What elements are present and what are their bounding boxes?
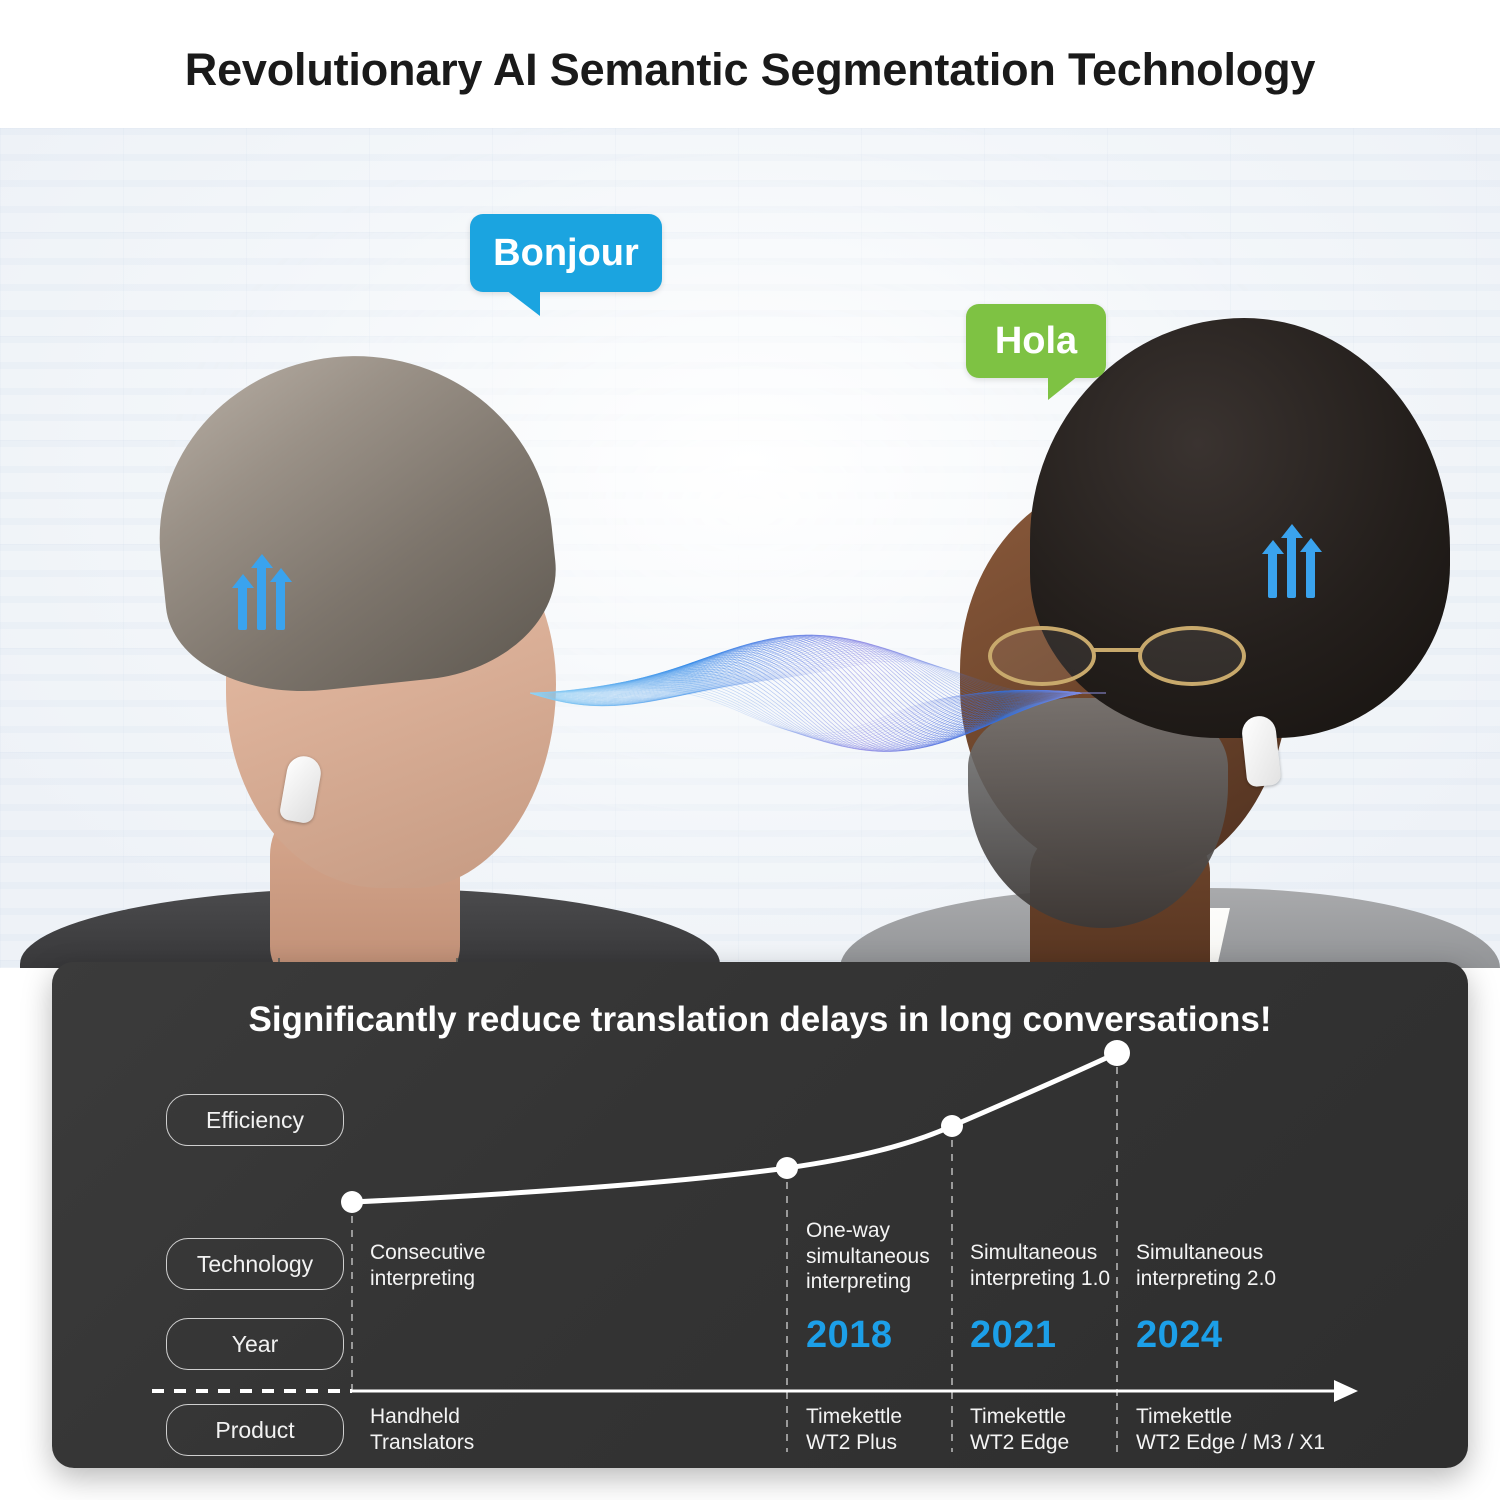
cell-technology-2: Simultaneous interpreting 1.0 (970, 1240, 1130, 1291)
row-label-product[interactable]: Product (166, 1404, 344, 1456)
axis-arrowhead (1334, 1380, 1358, 1402)
row-label-technology[interactable]: Technology (166, 1238, 344, 1290)
cell-technology-3: Simultaneous interpreting 2.0 (1136, 1240, 1316, 1291)
arrow-up-icon (1306, 550, 1315, 598)
glasses-icon (988, 626, 1288, 686)
speech-bubble-tail (506, 290, 540, 316)
cell-year-2: 2021 (970, 1314, 1057, 1357)
glasses-lens-left (988, 626, 1096, 686)
curve-node-3 (1104, 1040, 1130, 1066)
cell-year-3: 2024 (1136, 1314, 1223, 1357)
speech-bubble-hola-text: Hola (995, 320, 1077, 363)
audio-arrows-right (1268, 536, 1315, 598)
speech-bubble-tail (1048, 376, 1078, 400)
arrow-up-icon (238, 586, 247, 630)
glasses-lens-right (1138, 626, 1246, 686)
glasses-bridge (1094, 648, 1142, 652)
audio-arrows-left (238, 566, 285, 630)
curve-node-1 (776, 1157, 798, 1179)
arrow-up-icon (276, 580, 285, 630)
timeline-chart-panel: Significantly reduce translation delays … (52, 962, 1468, 1468)
cell-product-1: Timekettle WT2 Plus (806, 1404, 966, 1455)
person-right-man (820, 228, 1500, 968)
infographic-page: Revolutionary AI Semantic Segmentation T… (0, 0, 1500, 1500)
row-label-year[interactable]: Year (166, 1318, 344, 1370)
curve-node-0 (341, 1191, 363, 1213)
person-left-woman (20, 238, 720, 968)
cell-technology-0: Consecutive interpreting (370, 1240, 770, 1291)
arrow-up-icon (1268, 552, 1277, 598)
speech-bubble-bonjour: Bonjour (470, 214, 662, 292)
speech-bubble-bonjour-text: Bonjour (493, 232, 639, 275)
curve-node-2 (941, 1115, 963, 1137)
efficiency-curve-chart (52, 962, 1468, 1468)
arrow-up-icon (1287, 536, 1296, 598)
efficiency-curve (352, 1053, 1117, 1202)
hero-image (0, 128, 1500, 968)
page-title: Revolutionary AI Semantic Segmentation T… (0, 44, 1500, 96)
cell-technology-1: One-way simultaneous interpreting (806, 1218, 961, 1295)
cell-product-0: Handheld Translators (370, 1404, 750, 1455)
row-label-efficiency[interactable]: Efficiency (166, 1094, 344, 1146)
cell-product-2: Timekettle WT2 Edge (970, 1404, 1130, 1455)
woman-hair (142, 336, 566, 705)
arrow-up-icon (257, 566, 266, 630)
cell-year-1: 2018 (806, 1314, 893, 1357)
speech-bubble-hola: Hola (966, 304, 1106, 378)
cell-product-3: Timekettle WT2 Edge / M3 / X1 (1136, 1404, 1396, 1455)
